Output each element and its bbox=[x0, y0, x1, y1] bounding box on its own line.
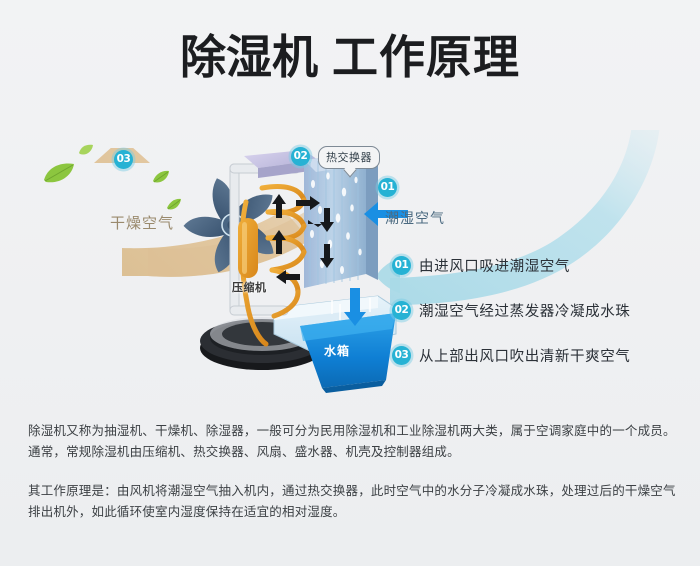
leaf-icon bbox=[152, 170, 170, 184]
label-dry-air: 干燥空气 bbox=[110, 212, 174, 233]
label-humid-air: 潮湿空气 bbox=[385, 208, 445, 228]
legend-text-03: 从上部出风口吹出清新干爽空气 bbox=[419, 345, 630, 366]
legend-badge-02: 02 bbox=[392, 301, 411, 320]
title-part-primary: 除湿机 bbox=[180, 30, 318, 84]
legend-list: 01 由进风口吸进潮湿空气 02 潮湿空气经过蒸发器冷凝成水珠 03 从上部出风… bbox=[392, 254, 682, 366]
label-water-tank: 水箱 bbox=[324, 342, 350, 359]
legend-item-02: 02 潮湿空气经过蒸发器冷凝成水珠 bbox=[392, 299, 682, 321]
callout-heat-exchanger: 热交换器 bbox=[318, 146, 380, 169]
legend-item-01: 01 由进风口吸进潮湿空气 bbox=[392, 254, 682, 276]
leaf-icon bbox=[42, 162, 76, 184]
diagram-badge-03: 03 bbox=[114, 150, 133, 169]
legend-text-02: 潮湿空气经过蒸发器冷凝成水珠 bbox=[419, 300, 630, 321]
callout-heat-exchanger-text: 热交换器 bbox=[318, 146, 380, 169]
legend-badge-03: 03 bbox=[392, 346, 411, 365]
infographic-page: 除湿机工作原理 bbox=[0, 0, 700, 566]
leaf-icon bbox=[78, 144, 94, 156]
title-text: 除湿机工作原理 bbox=[180, 34, 520, 80]
label-compressor: 压缩机 bbox=[232, 279, 267, 295]
paragraph-1: 除湿机又称为抽湿机、干燥机、除湿器，一般可分为民用除湿机和工业除湿机两大类，属于… bbox=[28, 420, 676, 462]
title-part-secondary: 工作原理 bbox=[332, 30, 520, 84]
body-copy: 除湿机又称为抽湿机、干燥机、除湿器，一般可分为民用除湿机和工业除湿机两大类，属于… bbox=[28, 420, 676, 522]
page-title: 除湿机工作原理 bbox=[0, 34, 700, 80]
legend-badge-01: 01 bbox=[392, 256, 411, 275]
legend-text-01: 由进风口吸进潮湿空气 bbox=[419, 255, 570, 276]
paragraph-2: 其工作原理是：由风机将潮湿空气抽入机内，通过热交换器，此时空气中的水分子冷凝成水… bbox=[28, 480, 676, 522]
diagram-badge-02: 02 bbox=[291, 147, 310, 166]
diagram-badge-01: 01 bbox=[378, 178, 397, 197]
legend-item-03: 03 从上部出风口吹出清新干爽空气 bbox=[392, 344, 682, 366]
